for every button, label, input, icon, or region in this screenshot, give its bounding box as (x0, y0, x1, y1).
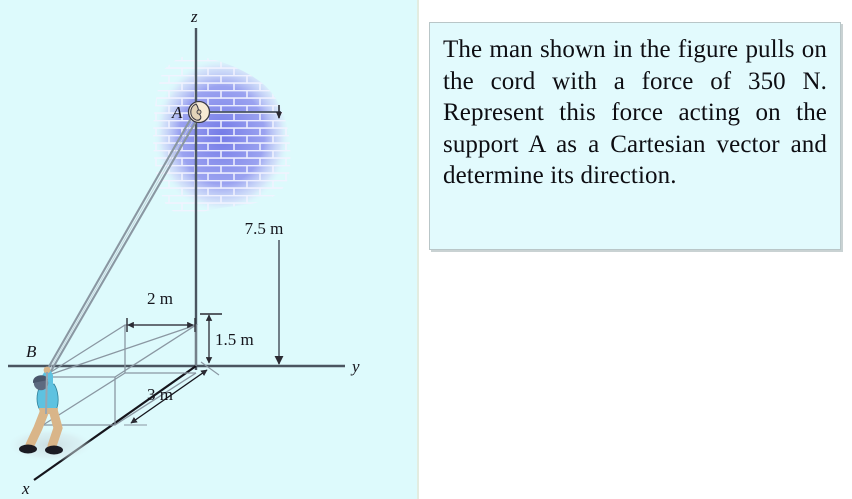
boot-rear (19, 445, 37, 454)
boot-front (45, 446, 63, 455)
problem-statement-box: The man shown in the figure pulls on the… (429, 22, 841, 250)
dimension-2m-label: 2 m (147, 289, 173, 308)
figure-diagram: z y x 7.5 m (0, 0, 418, 499)
dimension-1-5m: 1.5 m (200, 314, 254, 363)
pulley-support-a (189, 102, 210, 123)
dimension-3m-label: 3 m (147, 385, 173, 404)
dimension-7-5m-label: 7.5 m (245, 219, 284, 238)
y-axis-label: y (350, 357, 360, 376)
figure-panel-edge (417, 0, 419, 499)
cord-tail (46, 372, 47, 414)
figure-panel: z y x 7.5 m (0, 0, 418, 499)
x-axis-label: x (21, 479, 30, 498)
brick-wall (150, 50, 300, 215)
point-a-label: A (171, 103, 183, 122)
dimension-1-5m-label: 1.5 m (215, 330, 254, 349)
point-b-label: B (26, 342, 37, 361)
reference-box (43, 325, 196, 425)
dimension-2m: 2 m (127, 289, 195, 332)
dimension-3m: 3 m (124, 362, 219, 425)
z-axis-label: z (190, 7, 198, 26)
problem-statement-text: The man shown in the figure pulls on the… (430, 23, 840, 202)
